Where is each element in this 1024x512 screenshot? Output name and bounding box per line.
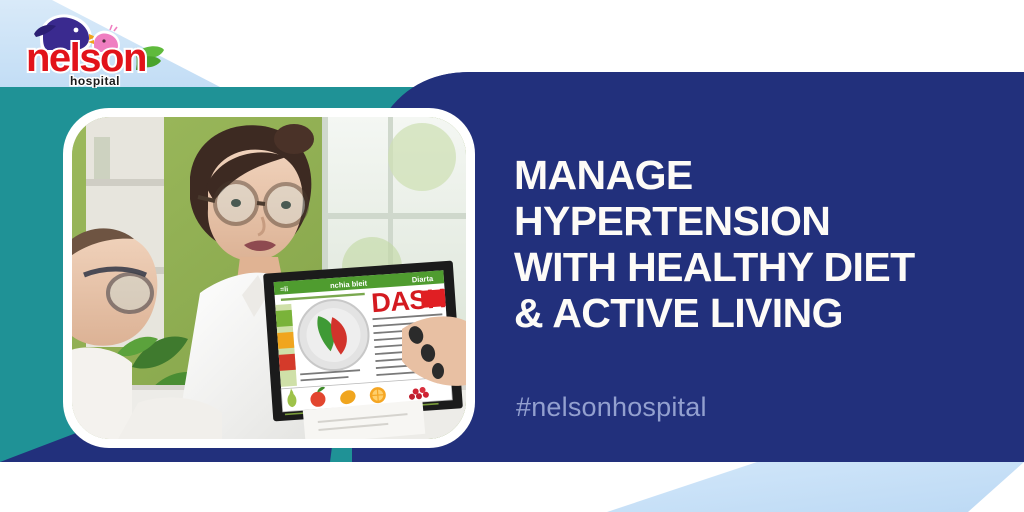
page-title: MANAGE HYPERTENSION WITH HEALTHY DIET & …: [514, 152, 994, 336]
brand-logo-art: nelson hospital: [14, 6, 172, 88]
hashtag-label: #nelsonhospital: [516, 392, 707, 423]
svg-text:=li: =li: [280, 286, 289, 294]
promo-banner: nelson hospital: [0, 0, 1024, 512]
bottom-right-blue-parallelogram: [607, 462, 1024, 512]
svg-text:Diarta: Diarta: [412, 274, 435, 285]
brand-logo[interactable]: nelson hospital: [14, 6, 172, 88]
headline-line-2: HYPERTENSION: [514, 198, 994, 244]
logo-subtitle: hospital: [70, 74, 120, 88]
headline-line-3: WITH HEALTHY DIET: [514, 244, 994, 290]
photo-image: =li nchia bleit Diarta: [72, 117, 466, 439]
headline-line-4: & ACTIVE LIVING: [514, 290, 994, 336]
headline-line-1: MANAGE: [514, 152, 994, 198]
consultation-photo-art: =li nchia bleit Diarta: [72, 117, 466, 439]
photo-card: =li nchia bleit Diarta: [63, 108, 475, 448]
